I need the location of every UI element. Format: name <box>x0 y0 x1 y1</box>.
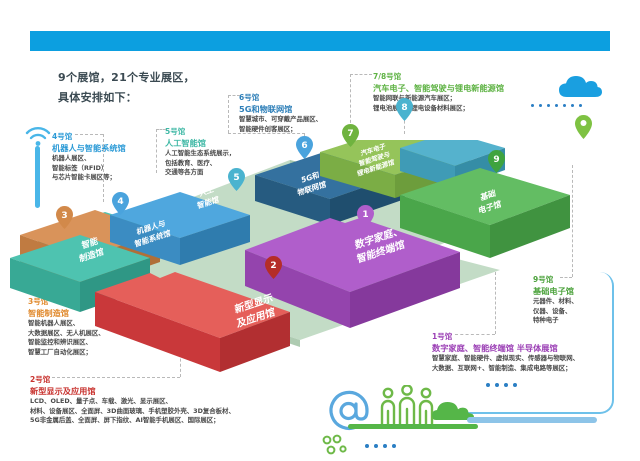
pin-hall-1[interactable]: 1 <box>357 205 374 228</box>
page-title: 9个展馆，21个专业展区， 具体安排如下： <box>58 68 388 108</box>
poster-canvas: 9个展馆，21个专业展区， 具体安排如下： 4号馆 机器人与智能系统馆 机器人展… <box>0 0 640 461</box>
callout-hall-2-desc-2: 5G非金属后盖、全面屏、屏下指纹、AI智能手机展区、国际展区； <box>30 416 235 426</box>
connector-hall-7 <box>350 74 372 75</box>
svg-text:9: 9 <box>493 155 499 165</box>
pin-hall-6[interactable]: 6 <box>296 136 313 159</box>
svg-text:7: 7 <box>347 129 353 139</box>
connector-hall-7-v <box>350 74 351 128</box>
svg-text:3: 3 <box>61 211 67 221</box>
connector-hall-4 <box>75 134 103 135</box>
svg-text:1: 1 <box>362 210 368 220</box>
callout-hall-6: 6号馆 5G和物联网馆 智慧城市、可穿戴产品展区、 智能硬件创客展区； <box>239 92 322 134</box>
dot-row-top-right <box>531 104 582 107</box>
callout-hall-6-number: 6号馆 <box>239 92 322 103</box>
pin-hall-3[interactable]: 3 <box>56 206 73 229</box>
callout-hall-7: 7/8号馆 汽车电子、智能驾驶与锂电新能源馆 智能网联与新能源汽车展区； 锂电池… <box>373 71 504 113</box>
ground-line-blue <box>467 417 597 423</box>
top-banner-bar <box>30 31 610 51</box>
connector-hall-6 <box>228 95 240 96</box>
callout-hall-7-desc-0: 智能网联与新能源汽车展区； <box>373 94 504 104</box>
title-line-2: 具体安排如下： <box>58 88 388 108</box>
pin-hall-9[interactable]: 9 <box>488 150 505 173</box>
connector-hall-5 <box>156 129 166 130</box>
callout-hall-6-desc-0: 智慧城市、可穿戴产品展区、 <box>239 115 322 125</box>
callout-hall-7-number: 7/8号馆 <box>373 71 504 82</box>
pin-hall-8[interactable]: 8 <box>396 98 413 121</box>
connector-hall-6-v <box>228 95 229 133</box>
callout-hall-7-name: 汽车电子、智能驾驶与锂电新能源馆 <box>373 82 504 94</box>
connector-hall-6-h2 <box>228 133 305 134</box>
callout-hall-7-desc-1: 锂电池展区、锂电设备材料展区； <box>373 104 504 114</box>
svg-text:2: 2 <box>270 261 276 271</box>
pin-hall-2[interactable]: 2 <box>265 256 282 279</box>
pin-hall-4[interactable]: 4 <box>112 192 129 215</box>
callout-hall-5-number: 5号馆 <box>165 126 235 137</box>
svg-text:8: 8 <box>401 103 407 113</box>
pin-hall-7[interactable]: 7 <box>342 124 359 147</box>
svg-text:6: 6 <box>301 141 307 151</box>
callout-hall-2-desc-1: 材料、设备展区、全面屏、3D曲面玻璃、手机塑胶外壳、3D复合板材、 <box>30 407 235 417</box>
ground-line-green <box>348 424 478 429</box>
dot-row-bottom-center <box>365 444 396 448</box>
location-pin-icon <box>575 115 592 139</box>
cloud-icon <box>559 76 603 98</box>
pin-hall-5[interactable]: 5 <box>228 168 245 191</box>
svg-text:5: 5 <box>233 173 239 183</box>
svg-text:4: 4 <box>117 197 123 207</box>
callout-hall-6-name: 5G和物联网馆 <box>239 103 322 115</box>
bubbles-decoration <box>322 434 348 456</box>
title-line-1: 9个展馆，21个专业展区， <box>58 68 388 88</box>
